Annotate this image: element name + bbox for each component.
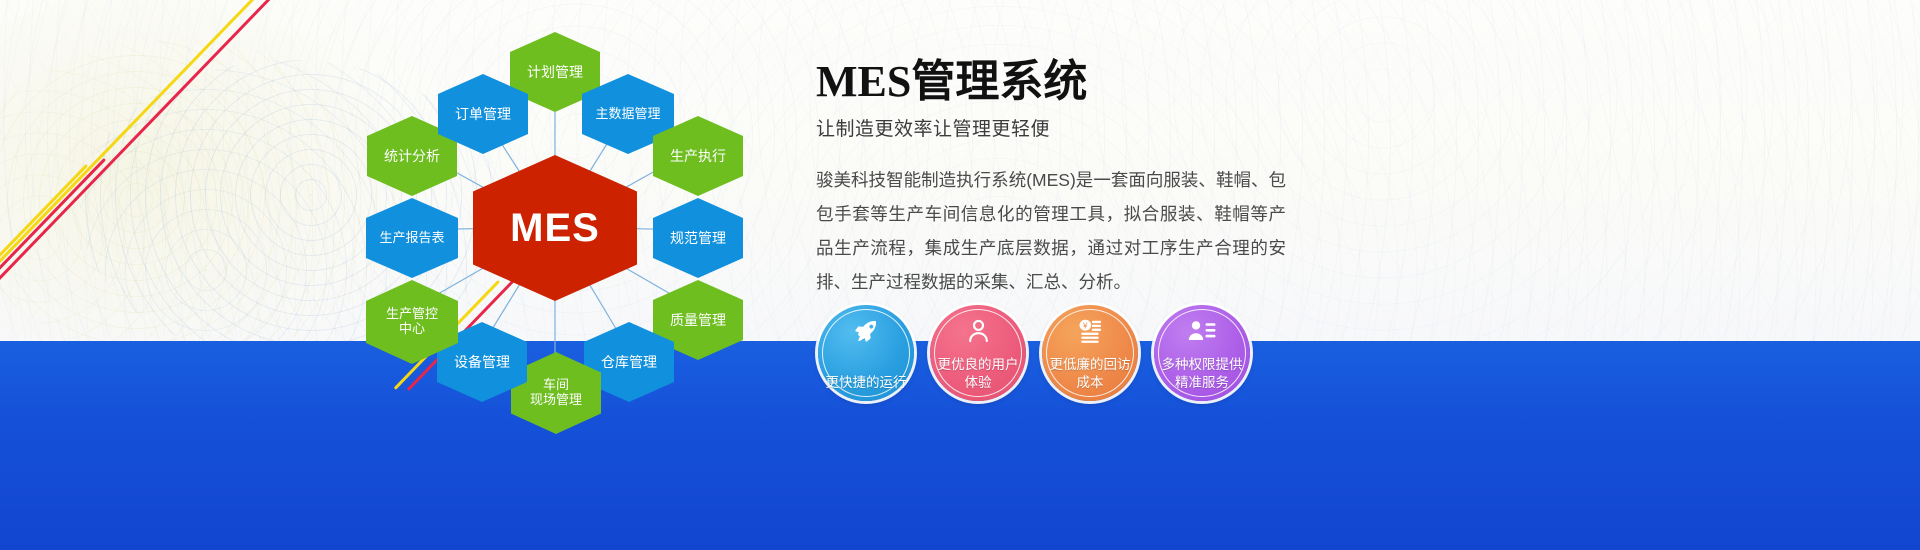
badge-label-line2: 体验: [965, 375, 992, 390]
feature-badge-lower-cost[interactable]: ¥ 更低廉的回访 成本: [1042, 305, 1138, 401]
badge-label: 更优良的用户 体验: [932, 356, 1024, 392]
badge-label-line1: 多种权限提供: [1162, 357, 1243, 372]
rocket-icon: [818, 316, 914, 346]
page-title: MES管理系统: [816, 60, 1286, 104]
badge-label-line2: 精准服务: [1175, 375, 1229, 390]
badge-label-line1: 更低廉的回访: [1050, 357, 1131, 372]
badge-label: 多种权限提供 精准服务: [1156, 356, 1248, 392]
user-list-icon: [1154, 316, 1250, 346]
diagram-node-label: 生产报告表: [373, 231, 450, 246]
hero-copy-block: MES管理系统 让制造更效率让管理更轻便 骏美科技智能制造执行系统(MES)是一…: [816, 60, 1286, 300]
diagram-node-label: 生产管控 中心: [380, 307, 444, 337]
diagram-node-label: 规范管理: [664, 230, 732, 246]
diagram-node-label: 订单管理: [449, 106, 517, 122]
feature-badge-permissions[interactable]: 多种权限提供 精准服务: [1154, 305, 1250, 401]
badge-label: 更快捷的运行: [820, 374, 912, 392]
diagram-node-label: 计划管理: [521, 64, 589, 80]
feature-badge-faster-operation[interactable]: 更快捷的运行: [818, 305, 914, 401]
diagram-core-label: MES: [504, 205, 606, 251]
badge-label-line1: 更快捷的运行: [826, 375, 907, 390]
diagram-node-label: 车间 现场管理: [524, 378, 588, 408]
diagram-node-label: 质量管理: [664, 312, 732, 328]
diagram-node-label: 仓库管理: [595, 354, 663, 370]
badge-label: 更低廉的回访 成本: [1044, 356, 1136, 392]
diagram-node-label: 生产执行: [664, 148, 732, 164]
feature-badge-better-ux[interactable]: 更优良的用户 体验: [930, 305, 1026, 401]
coins-icon: ¥: [1042, 316, 1138, 346]
feature-badge-row: 更快捷的运行 更优良的用户 体验 ¥: [818, 305, 1250, 401]
mes-hero-banner: MES 计划管理 主数据管理 生产执行 规范管理 质量管理 仓库管理 车间 现场…: [0, 0, 1920, 550]
mes-hexagon-diagram: MES 计划管理 主数据管理 生产执行 规范管理 质量管理 仓库管理 车间 现场…: [330, 12, 780, 442]
badge-label-line2: 成本: [1077, 375, 1104, 390]
diagram-node-label: 设备管理: [448, 354, 516, 370]
badge-label-line1: 更优良的用户: [938, 357, 1019, 372]
intro-paragraph: 骏美科技智能制造执行系统(MES)是一套面向服装、鞋帽、包包手套等生产车间信息化…: [816, 163, 1286, 300]
page-subtitle: 让制造更效率让管理更轻便: [816, 114, 1286, 141]
diagram-node-label: 主数据管理: [589, 107, 666, 122]
svg-text:¥: ¥: [1082, 322, 1088, 331]
diagram-node-label: 统计分析: [378, 148, 446, 164]
user-icon: [930, 316, 1026, 346]
